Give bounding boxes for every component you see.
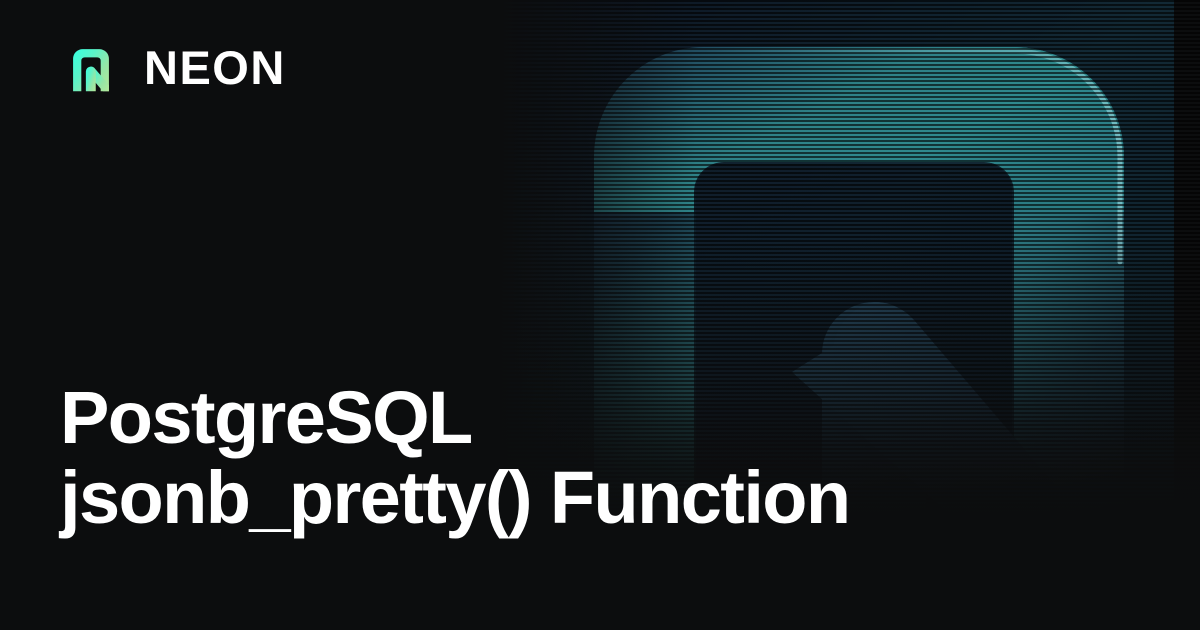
hero-title-block: PostgreSQL jsonb_pretty() Function — [60, 378, 850, 538]
page-title-line-2: jsonb_pretty() Function — [60, 458, 850, 538]
brand-header: NEON — [60, 36, 286, 98]
page-title: PostgreSQL jsonb_pretty() Function — [60, 378, 850, 538]
neon-logo-mark-wrap — [60, 36, 122, 98]
page-title-line-1: PostgreSQL — [60, 378, 850, 458]
neon-logo-mark — [60, 36, 122, 98]
brand-wordmark: NEON — [144, 44, 286, 91]
og-card: NEON PostgreSQL jsonb_pretty() Function — [0, 0, 1200, 630]
